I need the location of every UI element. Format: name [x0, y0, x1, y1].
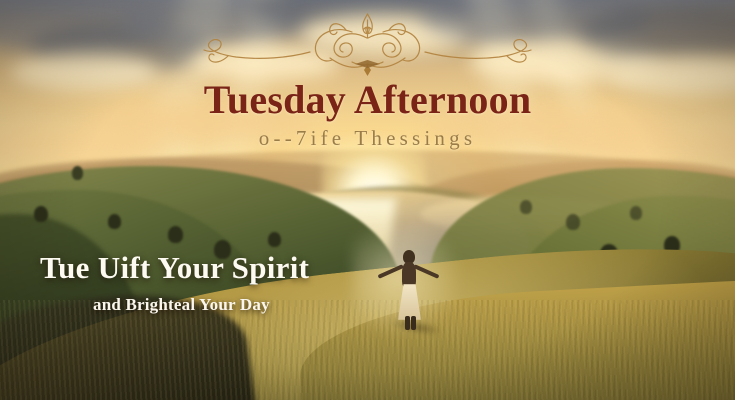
filigree-flourish-ornament	[0, 8, 735, 76]
sub-lead-message: and Brighteal Your Day	[93, 295, 270, 315]
greeting-banner: Tuesday Afternoon o--7ife Thessings Tue …	[0, 0, 735, 400]
page-title: Tuesday Afternoon	[0, 76, 735, 123]
page-subtitle: o--7ife Thessings	[0, 126, 735, 151]
lead-message: Tue Uift Your Spirit	[40, 250, 309, 286]
